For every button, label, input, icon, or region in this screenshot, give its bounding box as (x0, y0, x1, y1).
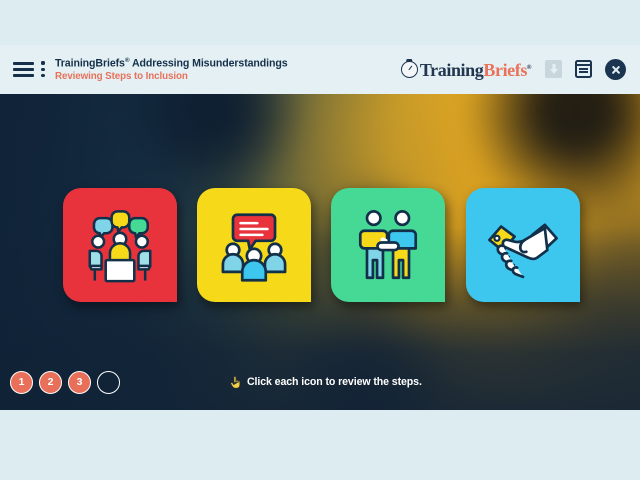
header-right-group: TrainingBriefs® (401, 59, 630, 80)
close-button[interactable] (605, 59, 626, 80)
page-title-rest: Addressing Misunderstandings (130, 58, 288, 70)
card-handshake-closeup[interactable] (466, 188, 580, 302)
hint-label: Click each icon to review the steps. (247, 376, 422, 388)
page-title: TrainingBriefs® Addressing Misunderstand… (55, 57, 288, 70)
hamburger-menu-icon[interactable] (13, 62, 34, 77)
handshake-closeup-icon (481, 203, 565, 287)
logo-wordmark: TrainingBriefs® (420, 61, 531, 79)
pointing-hand-icon (229, 375, 242, 389)
card-two-people-handshake[interactable] (331, 188, 445, 302)
slide-stage: 1 2 3 Click each icon to review the step… (0, 94, 640, 410)
instruction-hint: Click each icon to review the steps. (229, 375, 422, 389)
progress-step-3[interactable]: 3 (68, 371, 91, 394)
player-window: TrainingBriefs® Addressing Misunderstand… (0, 0, 640, 480)
download-icon (545, 60, 562, 78)
two-people-shaking-hands-icon (346, 203, 430, 287)
card-meeting-table[interactable] (63, 188, 177, 302)
download-button[interactable] (545, 59, 566, 80)
close-icon (605, 59, 626, 80)
more-options-icon[interactable] (41, 61, 45, 77)
team-meeting-table-icon (78, 203, 162, 287)
progress-step-2[interactable]: 2 (39, 371, 62, 394)
header-titles: TrainingBriefs® Addressing Misunderstand… (55, 56, 288, 82)
logo-registered-mark: ® (527, 65, 531, 71)
progress-step-1[interactable]: 1 (10, 371, 33, 394)
logo-word-briefs: Briefs (483, 60, 527, 80)
logo-word-training: Training (420, 60, 483, 80)
progress-step-4[interactable] (97, 371, 120, 394)
slide-footer: 1 2 3 Click each icon to review the step… (0, 354, 640, 410)
stopwatch-icon (401, 61, 418, 78)
header-left-group: TrainingBriefs® Addressing Misunderstand… (10, 56, 288, 82)
notes-icon (575, 60, 592, 78)
group-with-speech-bubble-icon (212, 203, 296, 287)
progress-indicator: 1 2 3 (0, 371, 120, 394)
card-group-speech[interactable] (197, 188, 311, 302)
page-title-brand: TrainingBriefs (55, 58, 125, 70)
app-header: TrainingBriefs® Addressing Misunderstand… (0, 45, 640, 94)
page-subtitle: Reviewing Steps to Inclusion (55, 71, 288, 83)
trainingbriefs-logo: TrainingBriefs® (401, 61, 531, 79)
notes-button[interactable] (575, 59, 596, 80)
